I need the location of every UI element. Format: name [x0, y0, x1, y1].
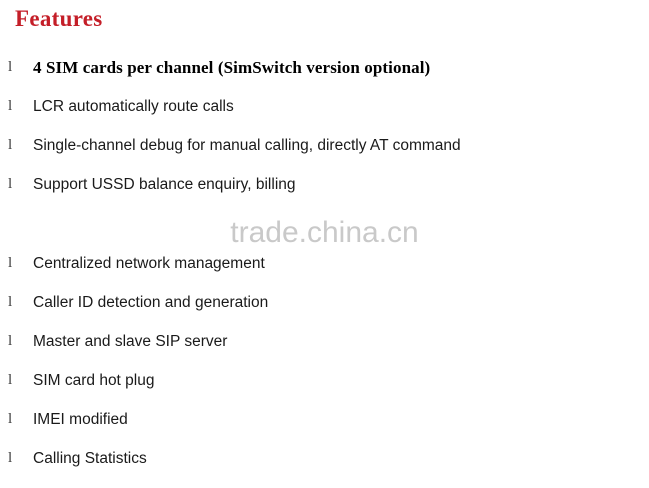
- list-item: l4 SIM cards per channel (SimSwitch vers…: [0, 48, 649, 87]
- list-item-label: LCR automatically route calls: [33, 87, 234, 126]
- list-item-label: Caller ID detection and generation: [33, 283, 268, 322]
- list-bullet-icon: l: [8, 439, 12, 478]
- list-item: lSingle-channel debug for manual calling…: [0, 126, 649, 165]
- list-item: lMaster and slave SIP server: [0, 322, 649, 361]
- list-item: lIMEI modified: [0, 400, 649, 439]
- list-item: lLCR automatically route calls: [0, 87, 649, 126]
- list-bullet-icon: l: [8, 361, 12, 400]
- list-item-label: Support USSD balance enquiry, billing: [33, 165, 296, 204]
- list-item-label: Calling Statistics: [33, 439, 147, 478]
- list-item-label: SIM card hot plug: [33, 361, 154, 400]
- list-item-label: Centralized network management: [33, 244, 265, 283]
- list-bullet-icon: l: [8, 283, 12, 322]
- list-bullet-icon: l: [8, 48, 12, 87]
- list-item: lSIM card hot plug: [0, 361, 649, 400]
- list-item-label: 4 SIM cards per channel (SimSwitch versi…: [33, 48, 430, 87]
- list-bullet-icon: l: [8, 126, 12, 165]
- list-item-label: IMEI modified: [33, 400, 128, 439]
- list-item-label: Single-channel debug for manual calling,…: [33, 126, 461, 165]
- list-item: lCentralized network management: [0, 244, 649, 283]
- list-item: lSupport USSD balance enquiry, billing: [0, 165, 649, 204]
- page-title: Features: [15, 5, 103, 33]
- list-item: lCaller ID detection and generation: [0, 283, 649, 322]
- list-bullet-icon: l: [8, 244, 12, 283]
- features-list: l4 SIM cards per channel (SimSwitch vers…: [0, 48, 649, 478]
- list-bullet-icon: l: [8, 322, 12, 361]
- list-item: lCalling Statistics: [0, 439, 649, 478]
- list-bullet-icon: l: [8, 87, 12, 126]
- list-bullet-icon: l: [8, 165, 12, 204]
- list-item-label: Master and slave SIP server: [33, 322, 227, 361]
- features-page: Features l4 SIM cards per channel (SimSw…: [0, 0, 649, 488]
- list-bullet-icon: l: [8, 400, 12, 439]
